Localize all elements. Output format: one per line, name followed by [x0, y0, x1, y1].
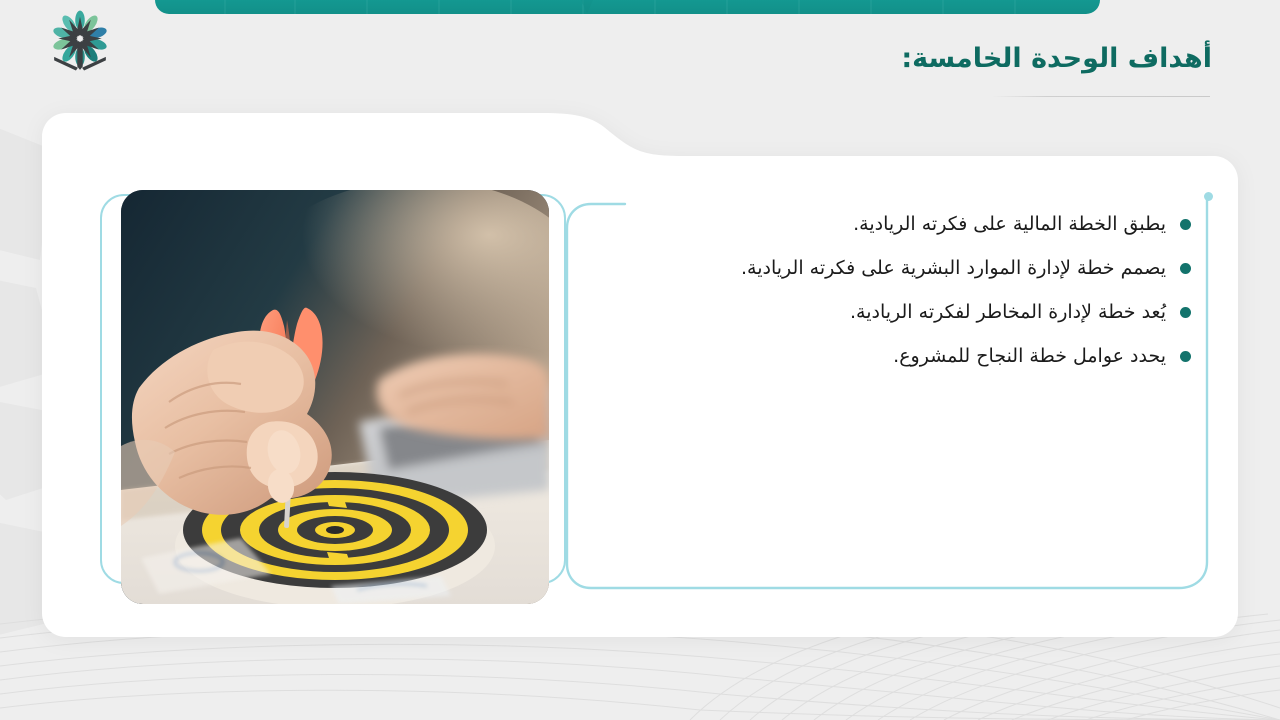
- bullet-dot-icon: [1180, 351, 1191, 362]
- top-accent-bar: [155, 0, 1100, 14]
- objective-text: يُعد خطة لإدارة المخاطر لفكرته الريادية.: [850, 298, 1166, 326]
- bullet-dot-icon: [1180, 263, 1191, 274]
- slide-root: أهداف الوحدة الخامسة:: [0, 0, 1280, 720]
- list-item: يُعد خطة لإدارة المخاطر لفكرته الريادية.: [591, 298, 1191, 342]
- objective-text: يحدد عوامل خطة النجاح للمشروع.: [893, 342, 1166, 370]
- objective-text: يصمم خطة لإدارة الموارد البشرية على فكرت…: [741, 254, 1166, 282]
- objectives-list: يطبق الخطة المالية على فكرته الريادية. ي…: [591, 210, 1191, 386]
- organization-logo: [46, 10, 114, 78]
- objective-text: يطبق الخطة المالية على فكرته الريادية.: [853, 210, 1166, 238]
- title-underline: [992, 96, 1210, 97]
- page-title: أهداف الوحدة الخامسة:: [901, 43, 1212, 74]
- list-item: يصمم خطة لإدارة الموارد البشرية على فكرت…: [591, 254, 1191, 298]
- hero-photo: [121, 190, 549, 604]
- bullet-dot-icon: [1180, 307, 1191, 318]
- objectives-panel: يطبق الخطة المالية على فكرته الريادية. ي…: [565, 196, 1209, 590]
- list-item: يحدد عوامل خطة النجاح للمشروع.: [591, 342, 1191, 386]
- panel-endpoint-dot: [1204, 192, 1213, 201]
- bullet-dot-icon: [1180, 219, 1191, 230]
- list-item: يطبق الخطة المالية على فكرته الريادية.: [591, 210, 1191, 254]
